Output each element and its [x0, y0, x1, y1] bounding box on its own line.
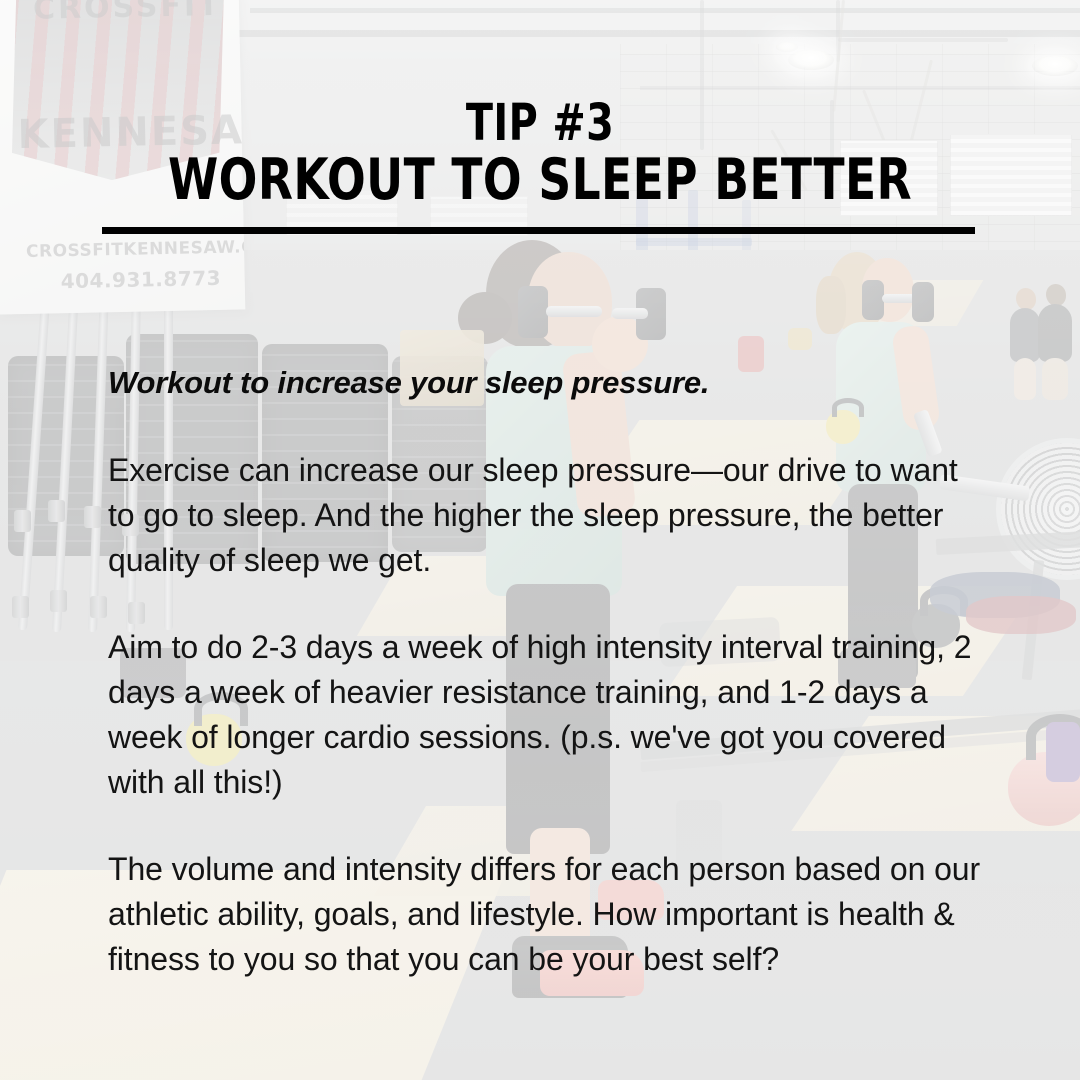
horizontal-divider	[102, 227, 975, 234]
body-paragraph-2: Aim to do 2-3 days a week of high intens…	[108, 625, 988, 805]
lede-text: Workout to increase your sleep pressure.	[108, 365, 988, 402]
body-paragraph-3: The volume and intensity differs for eac…	[108, 847, 988, 982]
poster-content: TIP #3 WORKOUT TO SLEEP BETTER Workout t…	[0, 0, 1080, 1080]
tip-kicker: TIP #3	[119, 98, 961, 149]
poster-canvas: CROSSFIT KENNESAW CROSSFITKENNESAW.COM 4…	[0, 0, 1080, 1080]
poster-headline: WORKOUT TO SLEEP BETTER	[108, 152, 972, 209]
body-text-column: Workout to increase your sleep pressure.…	[108, 365, 988, 982]
body-paragraph-1: Exercise can increase our sleep pressure…	[108, 448, 988, 583]
